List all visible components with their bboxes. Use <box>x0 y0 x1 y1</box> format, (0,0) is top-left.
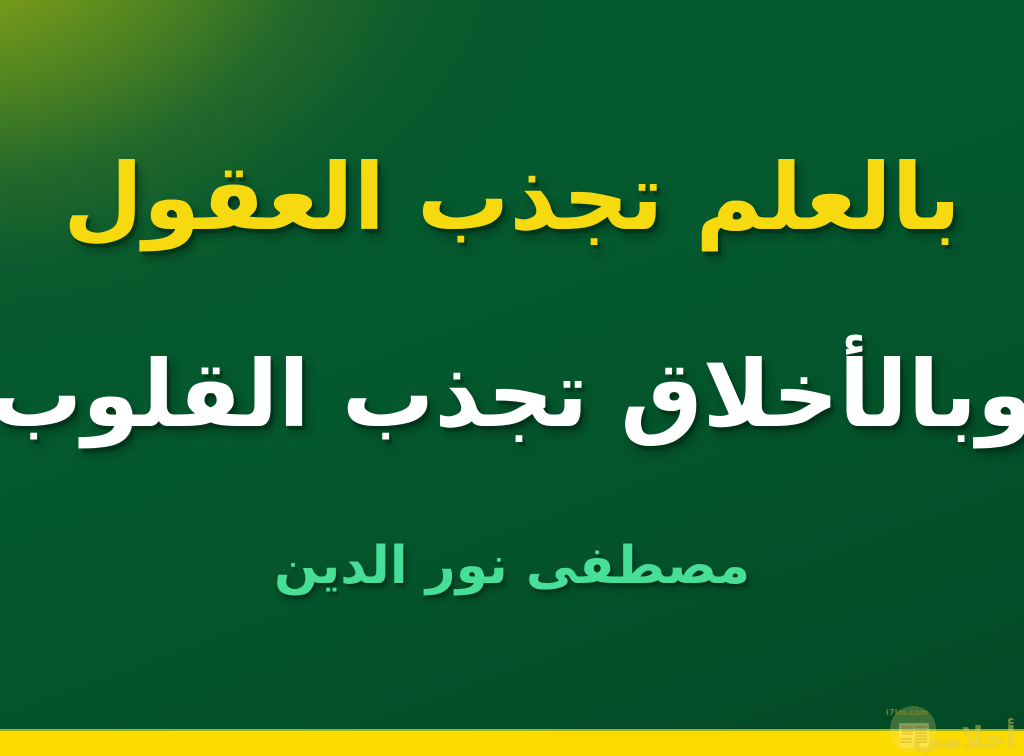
poster-canvas: بالعلم تجذب العقول وبالأخلاق تجذب القلوب… <box>0 0 1024 756</box>
watermark: i7lm.com أحلامي <box>884 700 1016 754</box>
headline-block: بالعلم تجذب العقول وبالأخلاق تجذب القلوب… <box>0 0 1024 756</box>
bottom-yellow-band <box>0 731 1024 756</box>
watermark-brand-arabic: أحلامي <box>912 724 1016 754</box>
watermark-url: i7lm.com <box>886 708 929 717</box>
author-attribution: مصطفى نور الدين <box>274 539 750 594</box>
headline-line-2: وبالأخلاق تجذب القلوب <box>0 347 1024 444</box>
headline-line-1: بالعلم تجذب العقول <box>63 150 961 247</box>
